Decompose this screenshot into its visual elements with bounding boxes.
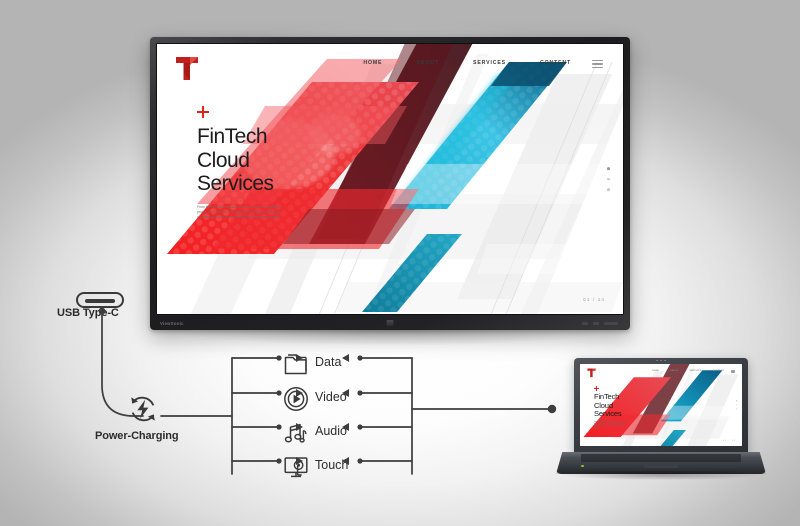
fintech-logo [175,56,199,81]
slide-headline-block: FinTech Cloud Services From limited tech… [197,106,305,221]
pagination-dot-2[interactable] [607,178,610,181]
laptop-hamburger-icon[interactable] [731,370,735,373]
hamburger-icon[interactable] [592,60,603,68]
laptop-nav-link-content[interactable]: CONTENT [713,370,724,372]
slide-nav-links[interactable]: HOME ABOUT SERVICES CONTENT [363,60,571,66]
headline-line-3: Services [197,172,305,196]
connectivity-diagram [0,275,800,526]
display-screen[interactable]: HOME ABOUT SERVICES CONTENT FinTech [157,44,623,314]
laptop-pagination-dots[interactable] [736,400,737,409]
pagination-dot-1[interactable] [607,167,610,170]
laptop-slide-headline-block: FinTech Cloud Services From limited tech… [594,386,636,430]
laptop-fintech-logo [587,368,596,378]
laptop-nav-link-about[interactable]: ABOUT [670,370,678,372]
laptop-slide-body-text: From limited technological know-how to s… [594,422,628,430]
laptop-slide-nav-links[interactable]: HOME ABOUT SERVICES CONTENT [652,370,724,372]
slide-headline: FinTech Cloud Services [197,125,305,196]
plus-mark-icon [197,106,209,118]
laptop-pagination-dot-2[interactable] [736,404,737,405]
laptop-pagination-dot-1[interactable] [736,400,737,401]
nav-link-home[interactable]: HOME [363,60,382,66]
pagination-dot-3[interactable] [607,188,610,191]
cable-endpoint-laptop [548,405,556,413]
headline-line-2: Cloud [197,149,305,173]
nav-link-services[interactable]: SERVICES [473,60,506,66]
laptop-slide-headline: FinTech Cloud Services [594,393,636,419]
laptop-plus-mark-icon [594,386,599,391]
laptop-headline-line-3: Services [594,410,636,419]
headline-line-1: FinTech [197,125,305,149]
laptop-nav-link-home[interactable]: HOME [652,370,659,372]
nav-link-content[interactable]: CONTENT [540,60,571,66]
laptop-nav-link-services[interactable]: SERVICES [690,370,702,372]
slide-topnav: HOME ABOUT SERVICES CONTENT [157,44,623,88]
laptop-pagination-dot-3[interactable] [736,409,737,410]
laptop-slide-page-counter: 01 / 14 [723,440,736,442]
presentation-slide: HOME ABOUT SERVICES CONTENT FinTech [157,44,623,314]
laptop-slide-topnav: HOME ABOUT SERVICES CONTENT [580,364,742,379]
cable-endpoint-usbc [99,308,106,315]
scene-stage: HOME ABOUT SERVICES CONTENT FinTech [0,0,800,526]
slide-body-text: From limited technological know-how to s… [197,205,285,221]
slide-pagination-dots[interactable] [607,167,610,191]
slide-page-counter: 01 / 14 [583,297,605,302]
nav-link-about[interactable]: ABOUT [416,60,439,66]
